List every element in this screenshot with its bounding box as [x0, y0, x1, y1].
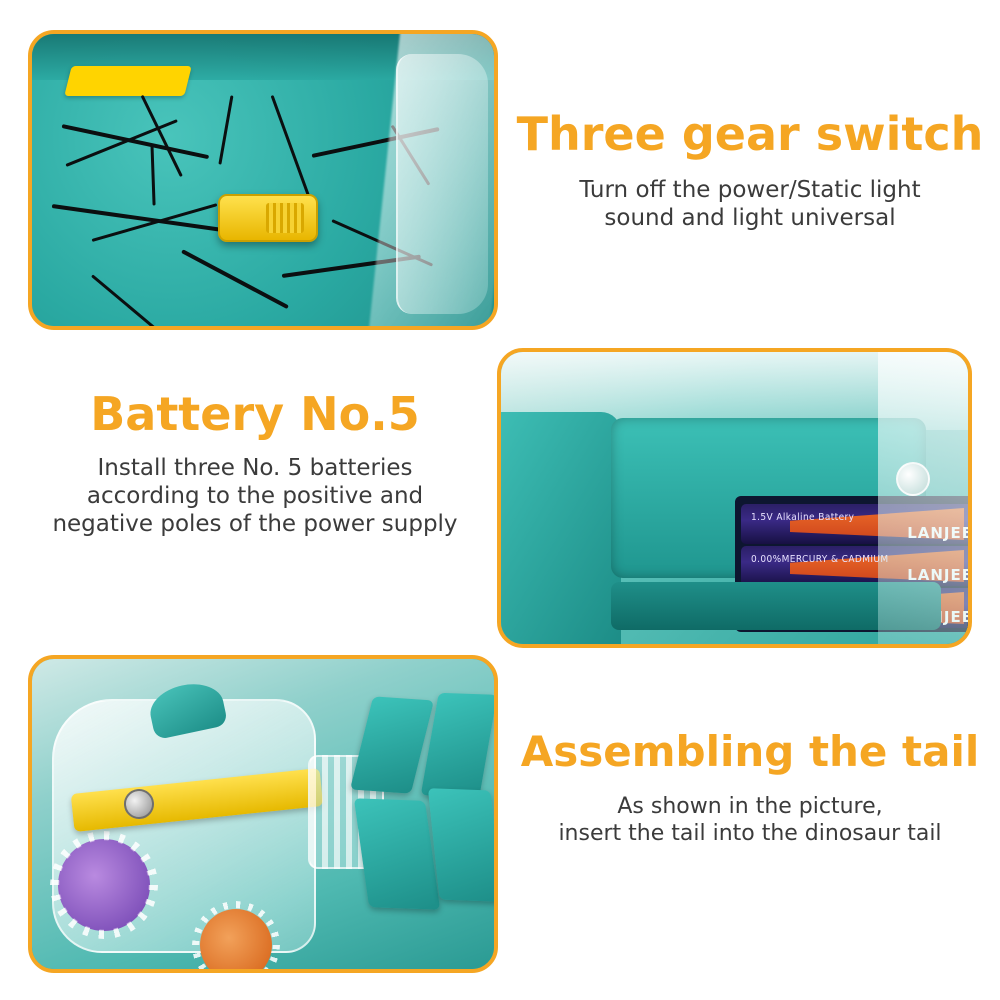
battery-cell-text: 1.5V Alkaline Battery [751, 513, 854, 524]
description-switch: Turn off the power/Static light sound an… [505, 176, 995, 232]
text-block-battery: Battery No.5 Install three No. 5 batteri… [20, 390, 490, 538]
instruction-sheet: Three gear switch Turn off the power/Sta… [0, 0, 1000, 1000]
description-switch-line1: Turn off the power/Static light [505, 176, 995, 204]
orange-gear [200, 909, 272, 973]
description-battery-line3: negative poles of the power supply [20, 510, 490, 538]
three-gear-switch[interactable] [218, 194, 318, 242]
purple-gear [58, 839, 150, 931]
tail-fin [428, 788, 498, 902]
housing-knob [896, 462, 930, 496]
heading-battery-no5: Battery No.5 [20, 390, 490, 438]
photo-assembling-tail [28, 655, 498, 973]
text-block-switch: Three gear switch Turn off the power/Sta… [505, 110, 995, 232]
toy-body-left-teal [501, 412, 621, 648]
text-block-tail: Assembling the tail As shown in the pict… [505, 730, 995, 848]
description-tail-line1: As shown in the picture, [505, 794, 995, 821]
description-switch-line2: sound and light universal [505, 204, 995, 232]
gear-teeth-icon [50, 831, 158, 939]
yellow-accent-tab [64, 66, 191, 96]
photo-battery-compartment: 1.5V Alkaline Battery LANJEE 0.00%MERCUR… [497, 348, 972, 648]
description-battery-line2: according to the positive and [20, 482, 490, 510]
transparent-shell-right [878, 352, 968, 648]
description-tail: As shown in the picture, insert the tail… [505, 794, 995, 848]
description-tail-line2: insert the tail into the dinosaur tail [505, 821, 995, 848]
heading-assembling-tail: Assembling the tail [505, 730, 995, 774]
description-battery: Install three No. 5 batteries according … [20, 454, 490, 538]
description-battery-line1: Install three No. 5 batteries [20, 454, 490, 482]
battery-cell-subtext: 0.00%MERCURY & CADMIUM [751, 555, 889, 566]
photo-three-gear-switch [28, 30, 498, 330]
heading-three-gear-switch: Three gear switch [505, 110, 995, 158]
